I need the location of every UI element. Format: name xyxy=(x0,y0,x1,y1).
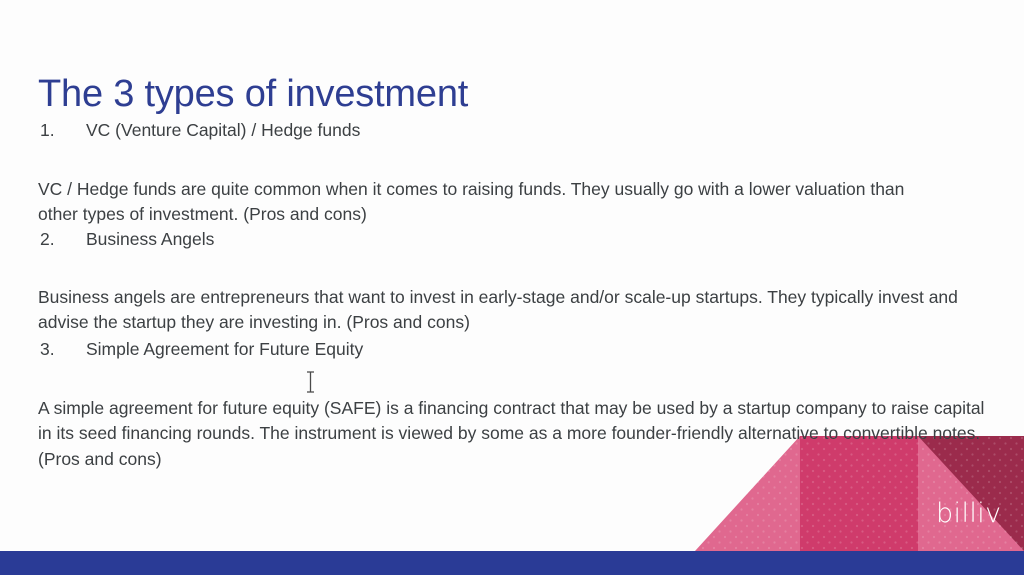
list-item-number: 1. xyxy=(40,118,86,143)
list-item-label: VC (Venture Capital) / Hedge funds xyxy=(86,120,360,140)
list-item-label: Simple Agreement for Future Equity xyxy=(86,339,363,359)
list-item: 3.Simple Agreement for Future Equity xyxy=(40,337,940,362)
list-item-number: 3. xyxy=(40,337,86,362)
list-item-paragraph: Business angels are entrepreneurs that w… xyxy=(38,285,968,337)
text-ibeam-cursor xyxy=(305,371,316,393)
billiv-logo: billiv xyxy=(936,500,1002,527)
list-item-label: Business Angels xyxy=(86,229,214,249)
list-item: 1.VC (Venture Capital) / Hedge funds xyxy=(40,118,940,143)
bottom-accent-bar xyxy=(0,551,1024,575)
presentation-slide: billiv The 3 types of investment 1.VC (V… xyxy=(0,0,1024,575)
list-item-paragraph: A simple agreement for future equity (SA… xyxy=(38,396,998,474)
list-item-paragraph: VC / Hedge funds are quite common when i… xyxy=(38,177,948,229)
list-item: 2.Business Angels xyxy=(40,227,940,252)
list-item-number: 2. xyxy=(40,227,86,252)
page-title: The 3 types of investment xyxy=(38,73,468,117)
